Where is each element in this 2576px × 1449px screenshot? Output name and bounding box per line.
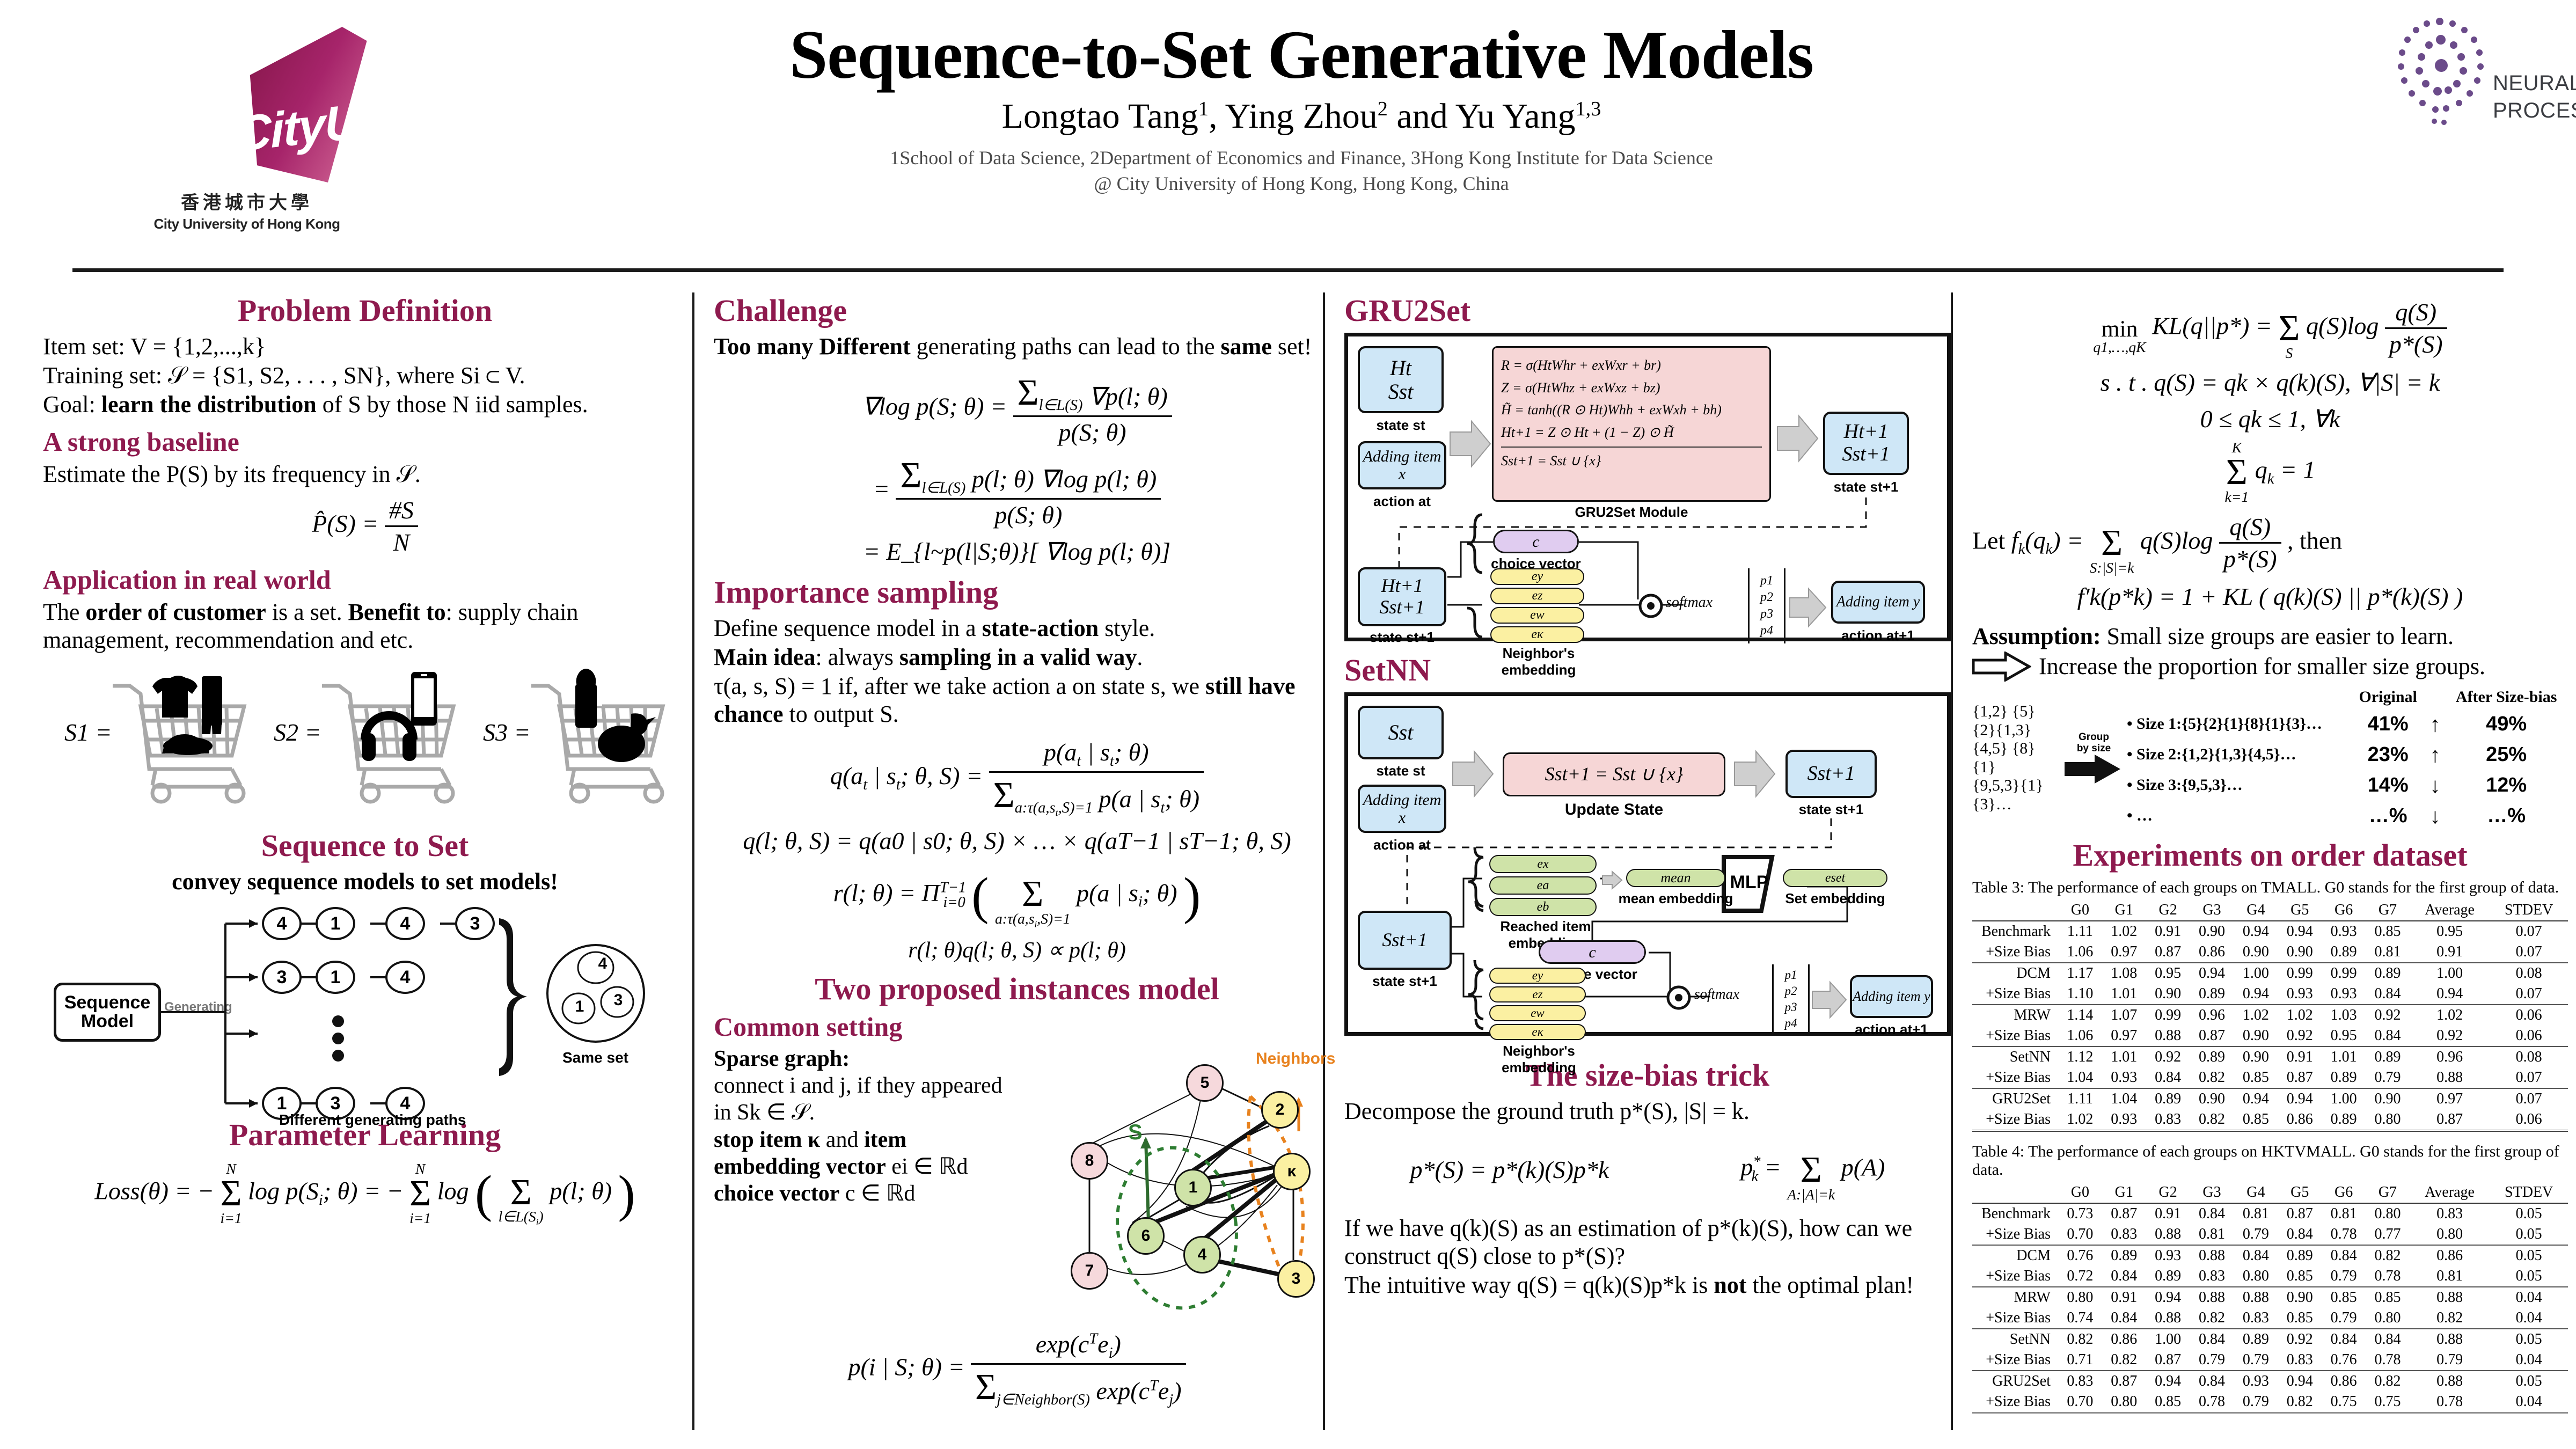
size-bias-line-2: If we have q(k)(S) as an estimation of p… xyxy=(1344,1214,1951,1270)
table-cell: 0.84 xyxy=(2102,1308,2146,1329)
table-cell: 0.87 xyxy=(2410,1109,2490,1131)
table-cell: 0.91 xyxy=(2278,1046,2322,1067)
table-column-header xyxy=(1972,1182,2058,1203)
size-row-label: • … xyxy=(2124,801,2351,831)
setnn-diagram: Sst state st Adding item x action at Sst… xyxy=(1344,692,1951,1036)
paths-caption: Different generating paths xyxy=(279,1111,466,1129)
table-row-label: +Size Bias xyxy=(1972,1067,2058,1088)
graph-node: 8 xyxy=(1071,1142,1108,1180)
section-setnn-heading: SetNN xyxy=(1344,652,1951,688)
opt-min-subscript: q1,…,qK xyxy=(2093,340,2146,354)
table-cell: 0.94 xyxy=(2146,1287,2190,1308)
column-3: GRU2Set Ht Sst state st Adding item x ac… xyxy=(1344,292,1951,1300)
table-cell: 0.97 xyxy=(2102,942,2146,963)
table-cell: 0.89 xyxy=(2146,1088,2190,1109)
cart-group-3: S3 = xyxy=(483,654,676,815)
table-column-header: G4 xyxy=(2234,1182,2278,1203)
setnn-action-t-caption: action at xyxy=(1358,837,1446,853)
table-cell: 0.79 xyxy=(2190,1350,2234,1371)
neurips-dots-icon xyxy=(2388,16,2495,140)
table-cell: 0.84 xyxy=(2234,1245,2278,1266)
table-cell: 0.80 xyxy=(2366,1308,2410,1329)
cart-label-2: S2 = xyxy=(274,718,321,747)
table-cell: 0.80 xyxy=(2366,1203,2410,1224)
raw-set-item: {3}… xyxy=(1972,795,2063,814)
table-cell: 0.84 xyxy=(2278,1224,2322,1245)
table-cell: 0.80 xyxy=(2366,1109,2410,1131)
table-cell: 0.86 xyxy=(2410,1245,2490,1266)
gru2set-action-t-caption: action at xyxy=(1358,493,1446,510)
gru2set-state-t-box: Ht Sst xyxy=(1358,346,1444,413)
opt-min-term: q(S)log xyxy=(2306,312,2379,340)
challenge-eq2-den: p(S; θ) xyxy=(896,500,1161,529)
prob-2: p2 xyxy=(1785,983,1797,999)
table-cell: 0.84 xyxy=(2366,1329,2410,1350)
table-cell: 0.84 xyxy=(2366,1026,2410,1046)
group-by-size-label: Group by size xyxy=(2066,732,2122,755)
problem-goal: Goal: learn the distribution of S by tho… xyxy=(43,391,687,419)
section-gru2set-heading: GRU2Set xyxy=(1344,292,1951,328)
table-cell: 0.79 xyxy=(2410,1350,2490,1371)
cityu-english-name: City University of Hong Kong xyxy=(134,216,360,232)
table-cell: 0.79 xyxy=(2366,1067,2410,1088)
table-cell: 0.99 xyxy=(2322,963,2366,984)
table-cell: 0.82 xyxy=(2190,1109,2234,1131)
size-bias-equations: p*(S) = p*(k)(S)p*k p*k = ΣA:|A|=k p(A) xyxy=(1344,1138,1951,1202)
table-cell: 0.05 xyxy=(2490,1329,2568,1350)
table-column-header: G1 xyxy=(2102,1182,2146,1203)
opt-equation-sum: KΣk=1 qk = 1 xyxy=(1972,441,2568,504)
table-cell: 0.85 xyxy=(2322,1287,2366,1308)
table-cell: 0.81 xyxy=(2366,942,2410,963)
table-cell: 0.90 xyxy=(2146,984,2190,1005)
table-row: SetNN1.121.010.920.890.900.911.010.890.9… xyxy=(1972,1046,2568,1067)
table-row: +Size Bias0.700.830.880.810.790.840.780.… xyxy=(1972,1224,2568,1245)
table-cell: 0.80 xyxy=(2410,1224,2490,1245)
size-row-label: • Size 1:{5}{2}{1}{8}{1}{3}… xyxy=(2124,709,2351,739)
table-row-label: SetNN xyxy=(1972,1046,2058,1067)
table-cell: 0.94 xyxy=(2146,1371,2190,1392)
table-cell: 0.05 xyxy=(2490,1203,2568,1224)
table-cell: 0.91 xyxy=(2410,942,2490,963)
table-cell: 0.85 xyxy=(2366,1287,2410,1308)
challenge-equation-2: = Σl∈L(S) p(l; θ) ∇log p(l; θ) p(S; θ) xyxy=(714,454,1320,529)
cityu-chinese-name: 香港城市大學 xyxy=(134,188,360,214)
is-equation-chain: q(l; θ, S) = q(a0 | s0; θ, S) × … × q(aT… xyxy=(714,826,1320,855)
table-cell: 1.02 xyxy=(2278,1005,2322,1026)
ti-eq-lhs: p(i | S; θ) = xyxy=(848,1353,964,1380)
table-column-header: G5 xyxy=(2278,900,2322,921)
path-node: 4 xyxy=(385,907,425,940)
gru2set-output-action-box: Adding item y xyxy=(1831,581,1925,624)
table-cell: 0.90 xyxy=(2234,942,2278,963)
is-equation-r: r(l; θ) = ΠT−1i=0 ( Σa:τ(a,si,S)=1 p(a |… xyxy=(714,862,1320,929)
table-cell: 1.11 xyxy=(2058,921,2102,942)
table-cell: 0.85 xyxy=(2278,1266,2322,1287)
prob-4: p4 xyxy=(1760,623,1773,639)
table-cell: 0.78 xyxy=(2410,1392,2490,1413)
neurips-line-2: PROCESSING SYSTEMS xyxy=(2493,97,2576,125)
gru2set-state-t1-box-2: Ht+1 Sst+1 xyxy=(1358,567,1446,626)
graph-node: 5 xyxy=(1186,1064,1224,1102)
table-row: MRW0.800.910.940.880.880.900.850.850.880… xyxy=(1972,1287,2568,1308)
table-cell: 0.97 xyxy=(2102,1026,2146,1046)
table-cell: 0.95 xyxy=(2322,1026,2366,1046)
raw-set-item: {4,5} {8} xyxy=(1972,740,2063,758)
table-cell: 0.05 xyxy=(2490,1224,2568,1245)
assumption-implication-line: Increase the proportion for smaller size… xyxy=(1972,652,2568,682)
is-line2-b: Main idea xyxy=(714,644,815,670)
table-row-label: SetNN xyxy=(1972,1329,2058,1350)
size-bias-eq-right-term: p(A) xyxy=(1841,1153,1885,1181)
arrow-right-icon xyxy=(1732,747,1777,801)
is-equation-proportional: r(l; θ)q(l; θ, S) ∝ p(l; θ) xyxy=(714,936,1320,963)
column-divider-1 xyxy=(692,292,694,1430)
table-cell: 0.92 xyxy=(2146,1046,2190,1067)
table-cell: 0.07 xyxy=(2490,1088,2568,1109)
affiliation-line-2: @ City University of Hong Kong, Hong Kon… xyxy=(483,172,2120,195)
table-cell: 0.85 xyxy=(2234,1067,2278,1088)
table-cell: 0.04 xyxy=(2490,1287,2568,1308)
size-row-label-text: … xyxy=(2136,807,2153,824)
table-cell: 0.04 xyxy=(2490,1350,2568,1371)
same-set-caption: Same set xyxy=(562,1049,628,1066)
table-cell: 0.84 xyxy=(2102,1266,2146,1287)
gru2set-softmax-label: softmax xyxy=(1666,594,1713,611)
table-cell: 0.93 xyxy=(2102,1067,2146,1088)
path-node: 3 xyxy=(455,907,495,940)
table-cell: 0.82 xyxy=(2190,1067,2234,1088)
gru2set-eq-1: R = σ(HtWhr + exWxr + br) xyxy=(1501,354,1762,377)
table-cell: 0.78 xyxy=(2322,1224,2366,1245)
table-cell: 1.01 xyxy=(2102,1046,2146,1067)
size-row-label: • Size 2:{1,2}{1,3}{4,5}… xyxy=(2124,740,2351,770)
gru2set-state-t1-caption-2: state st+1 xyxy=(1358,629,1446,646)
size-row-original: 14% xyxy=(2352,771,2424,800)
graph-node: 3 xyxy=(1277,1260,1315,1298)
table-cell: 0.77 xyxy=(2366,1224,2410,1245)
table-row-label: GRU2Set xyxy=(1972,1371,2058,1392)
arrow-right-icon xyxy=(1447,417,1493,471)
author-sep-1: , xyxy=(1209,97,1225,136)
table-cell: 0.94 xyxy=(2278,1088,2322,1109)
table-cell: 0.93 xyxy=(2146,1245,2190,1266)
challenge-eq2-fraction: Σl∈L(S) p(l; θ) ∇log p(l; θ) p(S; θ) xyxy=(896,454,1161,529)
table-cell: 0.80 xyxy=(2058,1287,2102,1308)
size-bias-grouping-figure: {1,2} {5} {2}{1,3} {4,5} {8} {1} {9,5,3}… xyxy=(1972,685,2568,832)
cart-group-2: S2 = xyxy=(274,654,467,815)
opt-let-num: q(S) xyxy=(2219,513,2281,544)
table-bottom-rule xyxy=(1972,1131,2568,1132)
size-bias-eq-right-sum: ΣA:|A|=k xyxy=(1787,1138,1835,1202)
table-cell: 0.83 xyxy=(2058,1371,2102,1392)
size-row-direction-icon: ↓ xyxy=(2425,801,2445,831)
path-node: 3 xyxy=(262,961,302,994)
author-1-sup: 1 xyxy=(1198,98,1209,120)
neurips-logo: NEURAL INFORMATION PROCESSING SYSTEMS xyxy=(2388,16,2565,193)
table-cell: 0.94 xyxy=(2234,1088,2278,1109)
table-cell: 0.84 xyxy=(2322,1245,2366,1266)
loss-lhs: Loss(θ) = − xyxy=(94,1177,214,1205)
setnn-embedding-2: ez xyxy=(1489,986,1586,1002)
gru2set-action-t-box: Adding item x xyxy=(1358,441,1446,489)
is-eq-q-num: p(at | st; θ) xyxy=(989,738,1204,773)
cityu-emblem-icon: CityU xyxy=(204,27,381,182)
table-cell: 1.10 xyxy=(2058,984,2102,1005)
results-table-hktvmall: G0G1G2G3G4G5G6G7AverageSTDEVBenchmark0.7… xyxy=(1972,1182,2568,1414)
cart-group-1: S1 = xyxy=(64,654,258,815)
col-original-header: Original xyxy=(2352,686,2424,708)
setnn-mean-caption: mean embedding xyxy=(1615,890,1736,907)
loss-sum-2: NΣi=1 xyxy=(409,1162,431,1225)
column-2: Challenge Too many Different generating … xyxy=(714,292,1320,1416)
opt-min-fraction: q(S)p*(S) xyxy=(2385,298,2447,358)
prob-2: p2 xyxy=(1760,589,1773,606)
table-cell: 0.97 xyxy=(2410,1088,2490,1109)
table-column-header: G2 xyxy=(2146,1182,2190,1203)
is-equation-q: q(at | st; θ, S) = p(at | st; θ) Σa:τ(a,… xyxy=(714,738,1320,819)
author-2: Ying Zhou xyxy=(1225,97,1378,136)
table-cell: 0.92 xyxy=(2278,1329,2322,1350)
assumption-text: Small size groups are easier to learn. xyxy=(2101,623,2454,649)
raw-set-list: {1,2} {5} {2}{1,3} {4,5} {8} {1} {9,5,3}… xyxy=(1972,702,2063,814)
is-line1-b: state-action xyxy=(982,615,1099,641)
path-node: 4 xyxy=(262,907,302,940)
size-row-after: 25% xyxy=(2446,740,2567,770)
opt-min-sum: ΣS xyxy=(2278,297,2300,360)
table-column-header: G5 xyxy=(2278,1182,2322,1203)
table-row-label: DCM xyxy=(1972,1245,2058,1266)
table-cell: 1.06 xyxy=(2058,1026,2102,1046)
column-divider-3 xyxy=(1951,292,1953,1430)
setnn-softmax-label: softmax xyxy=(1694,986,1739,1002)
implies-arrow-icon xyxy=(1972,652,2031,682)
table3-caption: Table 3: The performance of each groups … xyxy=(1972,879,2568,897)
opt-let-term: q(S)log xyxy=(2140,526,2213,554)
table-cell: 0.05 xyxy=(2490,1245,2568,1266)
gru2set-state-t1-box: Ht+1 Sst+1 xyxy=(1823,412,1909,475)
table-cell: 0.82 xyxy=(2278,1392,2322,1413)
table-row: +Size Bias0.740.840.880.820.830.850.790.… xyxy=(1972,1308,2568,1329)
table-cell: 0.99 xyxy=(2146,1005,2190,1026)
opt-equation-let: Let fk(qk) = ΣS:|S|=k q(S)log q(S)p*(S) … xyxy=(1972,511,2568,575)
author-2-sup: 2 xyxy=(1378,98,1388,120)
table-cell: 0.83 xyxy=(2278,1350,2322,1371)
table-header-row: G0G1G2G3G4G5G6G7AverageSTDEV xyxy=(1972,900,2568,921)
table-row: +Size Bias0.720.840.890.830.800.850.790.… xyxy=(1972,1266,2568,1287)
problem-goal-post: of S by those N iid samples. xyxy=(317,391,588,418)
baseline-eq-numerator: #S xyxy=(385,496,418,527)
table-column-header: G3 xyxy=(2190,900,2234,921)
graph-label-neighbors: Neighbors xyxy=(1256,1050,1335,1068)
prob-3: p3 xyxy=(1760,606,1773,623)
table-row: +Size Bias1.040.930.840.820.850.870.890.… xyxy=(1972,1067,2568,1088)
setnn-reached-2: ea xyxy=(1489,876,1597,895)
graph-node: 2 xyxy=(1261,1091,1299,1129)
table-cell: 1.01 xyxy=(2322,1046,2366,1067)
setnn-output-action-box: Adding item y xyxy=(1850,975,1933,1018)
author-3: Yu Yang xyxy=(1455,97,1576,136)
table-cell: 0.89 xyxy=(2278,1245,2322,1266)
state-t1-h-2: Ht+1 xyxy=(1381,575,1423,597)
size-row-label: • Size 3:{9,5,3}… xyxy=(2124,771,2351,800)
setnn-embedding-1: ey xyxy=(1489,968,1586,984)
table-cell: 0.88 xyxy=(2190,1287,2234,1308)
table-column-header: Average xyxy=(2410,1182,2490,1203)
is-eq-r-term: p(a | si; θ) xyxy=(1077,879,1177,906)
setnn-choice-vector-box: c xyxy=(1539,940,1646,964)
opt-equation-constraint: s . t . q(S) = qk × q(k)(S), ∀|S| = k xyxy=(1972,368,2568,397)
shopping-cart-icon xyxy=(107,664,255,804)
graph-node: 4 xyxy=(1183,1236,1221,1274)
table-cell: 0.80 xyxy=(2102,1392,2146,1413)
loss-inner-sum: Σl∈L(Si) xyxy=(499,1160,544,1227)
table-row: +Size Bias1.060.970.880.870.900.920.950.… xyxy=(1972,1026,2568,1046)
stop-item-label: stop item κ xyxy=(714,1128,820,1152)
table-cell: 0.83 xyxy=(2410,1203,2490,1224)
path-node: 1 xyxy=(316,907,355,940)
author-1: Longtao Tang xyxy=(1002,97,1198,136)
size-row-after: 12% xyxy=(2446,771,2567,800)
gru2set-state-t1-caption: state st+1 xyxy=(1823,479,1909,495)
size-row-after: …% xyxy=(2446,801,2567,831)
table-cell: 0.06 xyxy=(2490,1109,2568,1131)
size-bias-row: • Size 2:{1,2}{1,3}{4,5}… 23% ↑ 25% xyxy=(2124,740,2567,770)
arrow-right-icon xyxy=(1775,412,1820,465)
loss-paren-close: ) xyxy=(618,1165,635,1223)
table-cell: 0.92 xyxy=(2278,1026,2322,1046)
opt-let-then: , then xyxy=(2287,526,2342,554)
size-row-label-text: Size 2:{1,2}{1,3}{4,5}… xyxy=(2136,745,2296,763)
table-cell: 0.78 xyxy=(2366,1350,2410,1371)
raw-set-item: {2}{1,3} xyxy=(1972,721,2063,740)
affiliation-line-1: 1School of Data Science, 2Department of … xyxy=(483,147,2120,169)
setnn-mlp-label: MLP xyxy=(1729,872,1769,893)
gru2set-output-action-caption: action at+1 xyxy=(1831,627,1925,644)
raw-set-item: {1} xyxy=(1972,758,2063,777)
cart-illustrations: S1 = xyxy=(43,659,687,825)
table-column-header: G0 xyxy=(2058,900,2102,921)
setnn-state-t1-caption: state st+1 xyxy=(1785,801,1877,818)
seq2set-subtitle: convey sequence models to set models! xyxy=(43,868,687,896)
table-cell: 0.90 xyxy=(2234,1046,2278,1067)
table-cell: 0.88 xyxy=(2410,1287,2490,1308)
size-bias-line-3: The intuitive way q(S) = q(k)(S)p*k is n… xyxy=(1344,1271,1951,1299)
cityu-logo: CityU 香港城市大學 City University of Hong Kon… xyxy=(123,11,424,247)
table-row: +Size Bias0.700.800.850.780.790.820.750.… xyxy=(1972,1392,2568,1413)
table-cell: 0.94 xyxy=(2410,984,2490,1005)
size-bias-proportion-table: Original After Size-bias • Size 1:{5}{2}… xyxy=(2123,685,2568,832)
table-cell: 0.90 xyxy=(2278,1287,2322,1308)
loss-paren-open: ( xyxy=(475,1165,492,1223)
table4-caption: Table 4: The performance of each groups … xyxy=(1972,1143,2568,1179)
table-cell: 1.00 xyxy=(2234,963,2278,984)
gru2set-eq-3: H̃ = tanh((R ⊙ Ht)Whh + exWxh + bh) xyxy=(1501,399,1762,421)
table-cell: 0.08 xyxy=(2490,1046,2568,1067)
prob-3: p3 xyxy=(1785,999,1797,1015)
is-line2-post: . xyxy=(1137,644,1143,670)
table-cell: 1.08 xyxy=(2102,963,2146,984)
stop-item-mid: and xyxy=(820,1128,864,1152)
table-cell: 0.90 xyxy=(2278,942,2322,963)
setnn-embedding-3: ew xyxy=(1489,1005,1586,1021)
table-cell: 0.96 xyxy=(2190,1005,2234,1026)
challenge-text-b1: Too many Different xyxy=(714,333,911,360)
group-label-1: Group xyxy=(2066,732,2122,743)
table-cell: 0.74 xyxy=(2058,1308,2102,1329)
table-cell: 0.05 xyxy=(2490,1371,2568,1392)
gru2set-eq-4: Ht+1 = Z ⊙ Ht + (1 − Z) ⊙ H̃ xyxy=(1501,421,1762,448)
section-size-bias-trick-heading: The size-bias trick xyxy=(1344,1057,1951,1093)
challenge-text: Too many Different generating paths can … xyxy=(714,333,1320,361)
table-cell: 0.84 xyxy=(2146,1067,2190,1088)
is-line3-post: to output S. xyxy=(784,701,899,727)
table-row: DCM0.760.890.930.880.840.890.840.820.860… xyxy=(1972,1245,2568,1266)
sparse-graph-text: Sparse graph: connect i and j, if they a… xyxy=(714,1045,1004,1207)
table-column-header xyxy=(1972,900,2058,921)
table-cell: 1.17 xyxy=(2058,963,2102,984)
opt-let-den: p*(S) xyxy=(2219,544,2281,573)
table-column-header: G3 xyxy=(2190,1182,2234,1203)
setnn-embeddings-caption: Neighbor's embedding xyxy=(1481,1043,1597,1076)
table-cell: 0.93 xyxy=(2278,984,2322,1005)
table-cell: 0.06 xyxy=(2490,1026,2568,1046)
table-cell: 1.03 xyxy=(2322,1005,2366,1026)
table-cell: 0.89 xyxy=(2146,1266,2190,1287)
setnn-update-state-caption: Update State xyxy=(1503,801,1725,819)
challenge-eq1-lhs: ∇log p(S; θ) = xyxy=(862,393,1007,420)
opt-equation-min: minq1,…,qK KL(q||p*) = ΣS q(S)log q(S)p*… xyxy=(1972,297,2568,360)
group-by-size-arrow: Group by size xyxy=(2063,718,2123,799)
table-cell: 0.84 xyxy=(2366,984,2410,1005)
table-row-label: +Size Bias xyxy=(1972,1392,2058,1413)
table-cell: 0.96 xyxy=(2410,1046,2490,1067)
table-column-header: G6 xyxy=(2322,900,2366,921)
opt-min-kl: KL(q||p*) = xyxy=(2152,312,2272,340)
setnn-prob-vector: p1 p2 p3 p4 xyxy=(1772,964,1810,1034)
size-bias-line3-b: not xyxy=(1714,1272,1746,1298)
table-cell: 0.85 xyxy=(2234,1109,2278,1131)
section-baseline-heading: A strong baseline xyxy=(43,426,687,457)
table-cell: 1.04 xyxy=(2102,1088,2146,1109)
problem-training-set: Training set: 𝒮 = {S1, S2, . . . , SN}, … xyxy=(43,362,687,390)
table-cell: 0.99 xyxy=(2278,963,2322,984)
table-cell: 0.75 xyxy=(2322,1392,2366,1413)
table-cell: 0.08 xyxy=(2490,963,2568,984)
is-eq-q-fraction: p(at | st; θ) Σa:τ(a,st,S)=1 p(a | st; θ… xyxy=(989,738,1204,819)
table-cell: 0.88 xyxy=(2190,1245,2234,1266)
graph-node: 1 xyxy=(1174,1169,1212,1206)
setnn-mean-box: mean xyxy=(1626,869,1725,887)
table-cell: 0.87 xyxy=(2190,1026,2234,1046)
section-challenge-heading: Challenge xyxy=(714,292,1320,328)
table-column-header: STDEV xyxy=(2490,1182,2568,1203)
is-line-3: τ(a, s, S) = 1 if, after we take action … xyxy=(714,672,1320,728)
table-cell: 0.83 xyxy=(2190,1266,2234,1287)
table-cell: 0.94 xyxy=(2234,921,2278,942)
item-embedding-desc: ei ∈ ℝd xyxy=(886,1154,968,1179)
table-row-label: +Size Bias xyxy=(1972,1266,2058,1287)
challenge-equation-1: ∇log p(S; θ) = Σl∈L(S) ∇p(l; θ) p(S; θ) xyxy=(714,371,1320,447)
size-bias-line-1: Decompose the ground truth p*(S), |S| = … xyxy=(1344,1097,1951,1125)
state-t-h: Ht xyxy=(1390,356,1411,380)
table-row-label: MRW xyxy=(1972,1005,2058,1026)
table-cell: 0.07 xyxy=(2490,1067,2568,1088)
opt-equation-bound: 0 ≤ qk ≤ 1, ∀k xyxy=(1972,404,2568,433)
setnn-reached-1: ex xyxy=(1489,855,1597,873)
table-cell: 0.85 xyxy=(2366,921,2410,942)
table-row-label: Benchmark xyxy=(1972,1203,2058,1224)
